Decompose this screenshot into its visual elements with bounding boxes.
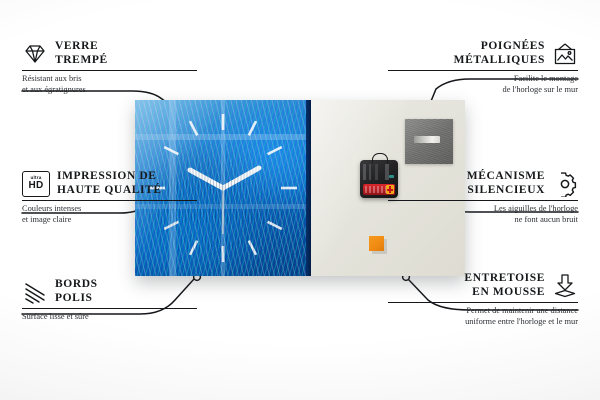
polished-edges-icon <box>22 279 48 305</box>
callout-header: ENTRETOISE EN MOUSSE <box>388 272 578 299</box>
callout-divider <box>22 70 197 71</box>
callout-header: ultra HD IMPRESSION DE HAUTE QUALITÉ <box>22 170 197 197</box>
pattern-grid-line <box>221 100 225 276</box>
callout-header: POIGNÉES MÉTALLIQUES <box>388 40 578 67</box>
callout-divider <box>22 308 197 309</box>
callout-title: POIGNÉES MÉTALLIQUES <box>454 40 545 67</box>
callout-subtitle: Les aiguilles de l'horloge ne font aucun… <box>388 204 578 225</box>
gear-icon <box>552 171 578 197</box>
callout-title: VERRE TREMPÉ <box>55 40 108 67</box>
callout-verre-trempe: VERRE TREMPÉ Résistant aux bris et aux é… <box>22 40 197 95</box>
callout-divider <box>388 302 578 303</box>
minute-hand <box>223 168 259 188</box>
picture-hanger-icon <box>552 41 578 67</box>
infographic-canvas: VERRE TREMPÉ Résistant aux bris et aux é… <box>0 0 600 400</box>
callout-divider <box>388 70 578 71</box>
callout-divider <box>22 200 197 201</box>
foam-spacer <box>369 236 384 251</box>
callout-entretoise-en-mousse: ENTRETOISE EN MOUSSE Permet de maintenir… <box>388 272 578 327</box>
callout-impression-haute-qualite: ultra HD IMPRESSION DE HAUTE QUALITÉ Cou… <box>22 170 197 225</box>
callout-title: BORDS POLIS <box>55 278 98 305</box>
diamond-icon <box>22 41 48 67</box>
mechanism-hanger-loop <box>372 153 388 163</box>
callout-subtitle: Résistant aux bris et aux égratignures <box>22 74 197 95</box>
pattern-grid-line <box>135 134 311 140</box>
callout-subtitle: Facilite le montage de l'horloge sur le … <box>388 74 578 95</box>
callout-bords-polis: BORDS POLIS Surface lisse et sûre <box>22 278 197 323</box>
down-arrow-pad-icon <box>552 273 578 299</box>
callout-poignees-metalliques: POIGNÉES MÉTALLIQUES Facilite le montage… <box>388 40 578 95</box>
callout-title: IMPRESSION DE HAUTE QUALITÉ <box>57 170 162 197</box>
battery-label <box>365 186 387 193</box>
callout-header: MÉCANISME SILENCIEUX <box>388 170 578 197</box>
callout-subtitle: Permet de maintenir une distance uniform… <box>388 306 578 327</box>
callout-mecanisme-silencieux: MÉCANISME SILENCIEUX Les aiguilles de l'… <box>388 170 578 225</box>
callout-divider <box>388 200 578 201</box>
callout-subtitle: Surface lisse et sûre <box>22 312 197 323</box>
ultra-hd-badge-icon: ultra HD <box>22 171 50 197</box>
callout-title: ENTRETOISE EN MOUSSE <box>464 272 545 299</box>
callout-title: MÉCANISME SILENCIEUX <box>467 170 545 197</box>
hanger-slot <box>414 136 440 143</box>
hands-center-cap <box>220 185 225 190</box>
callout-subtitle: Couleurs intenses et image claire <box>22 204 197 225</box>
callout-header: BORDS POLIS <box>22 278 197 305</box>
badge-large-text: HD <box>28 181 43 191</box>
metal-hanger-plate <box>405 119 453 164</box>
callout-header: VERRE TREMPÉ <box>22 40 197 67</box>
